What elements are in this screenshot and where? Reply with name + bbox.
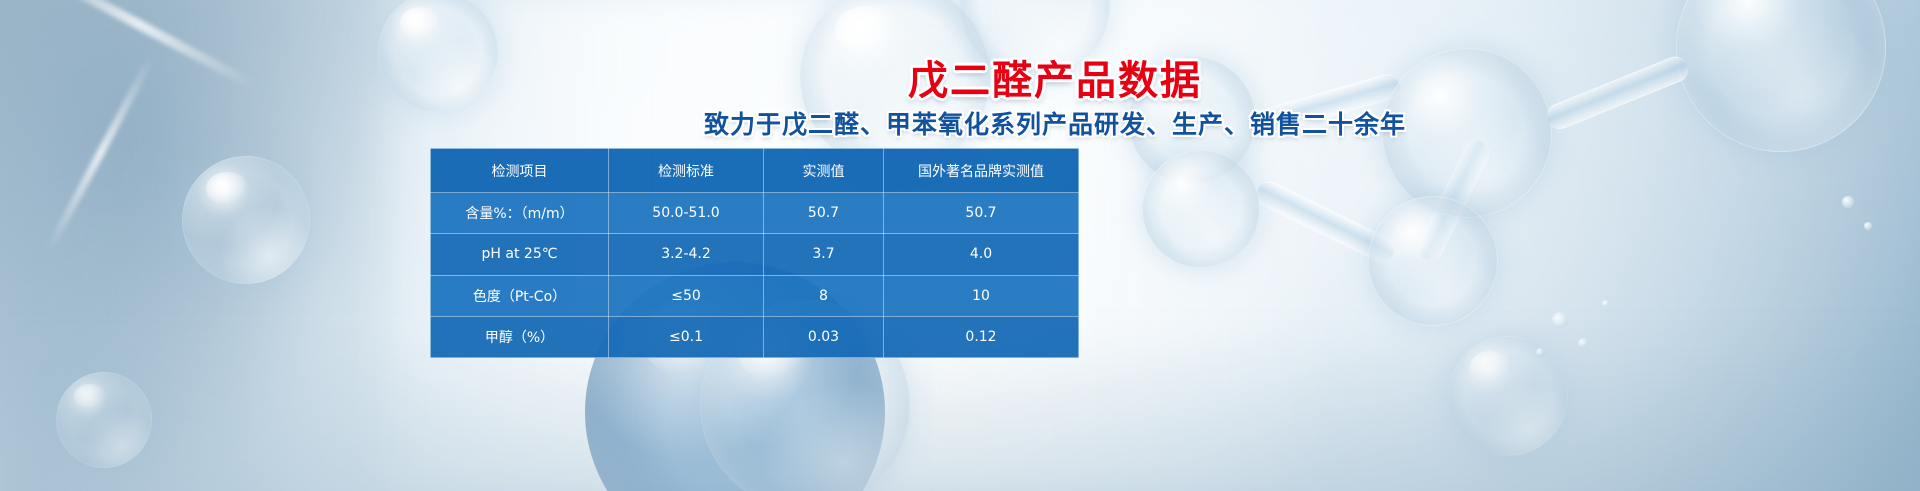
cell-item: pH at 25℃ (431, 234, 609, 275)
table-row: 甲醇（%） ≤0.1 0.03 0.12 (431, 316, 1079, 357)
cell-foreign: 10 (884, 275, 1079, 316)
cell-measured: 3.7 (764, 234, 884, 275)
cell-standard: ≤0.1 (609, 316, 764, 357)
product-data-table: 检测项目 检测标准 实测值 国外著名品牌实测值 含量%：（m/m） 50.0-5… (430, 148, 1079, 358)
table-row: 含量%：（m/m） 50.0-51.0 50.7 50.7 (431, 193, 1079, 234)
cell-measured: 50.7 (764, 193, 884, 234)
cell-measured: 0.03 (764, 316, 884, 357)
table-row: pH at 25℃ 3.2-4.2 3.7 4.0 (431, 234, 1079, 275)
banner-subtitle: 致力于戊二醛、甲苯氧化系列产品研发、生产、销售二十余年 (0, 105, 1920, 141)
cell-foreign: 0.12 (884, 316, 1079, 357)
table-header-row: 检测项目 检测标准 实测值 国外著名品牌实测值 (431, 149, 1079, 193)
cell-foreign: 50.7 (884, 193, 1079, 234)
cell-standard: 3.2-4.2 (609, 234, 764, 275)
table-row: 色度（Pt-Co） ≤50 8 10 (431, 275, 1079, 316)
cell-standard: 50.0-51.0 (609, 193, 764, 234)
cell-item: 含量%：（m/m） (431, 193, 609, 234)
table-header: 检测项目 检测标准 实测值 国外著名品牌实测值 (431, 149, 1079, 193)
table-body: 含量%：（m/m） 50.0-51.0 50.7 50.7 pH at 25℃ … (431, 193, 1079, 358)
cell-foreign: 4.0 (884, 234, 1079, 275)
product-data-table-wrapper: 检测项目 检测标准 实测值 国外著名品牌实测值 含量%：（m/m） 50.0-5… (430, 148, 1078, 358)
cell-standard: ≤50 (609, 275, 764, 316)
cell-item: 甲醇（%） (431, 316, 609, 357)
column-header-standard: 检测标准 (609, 149, 764, 193)
cell-item: 色度（Pt-Co） (431, 275, 609, 316)
column-header-measured: 实测值 (764, 149, 884, 193)
column-header-foreign: 国外著名品牌实测值 (884, 149, 1079, 193)
banner-content: 戊二醛产品数据 致力于戊二醛、甲苯氧化系列产品研发、生产、销售二十余年 检测项目… (0, 0, 1920, 491)
column-header-item: 检测项目 (431, 149, 609, 193)
cell-measured: 8 (764, 275, 884, 316)
banner-title: 戊二醛产品数据 (0, 48, 1920, 106)
